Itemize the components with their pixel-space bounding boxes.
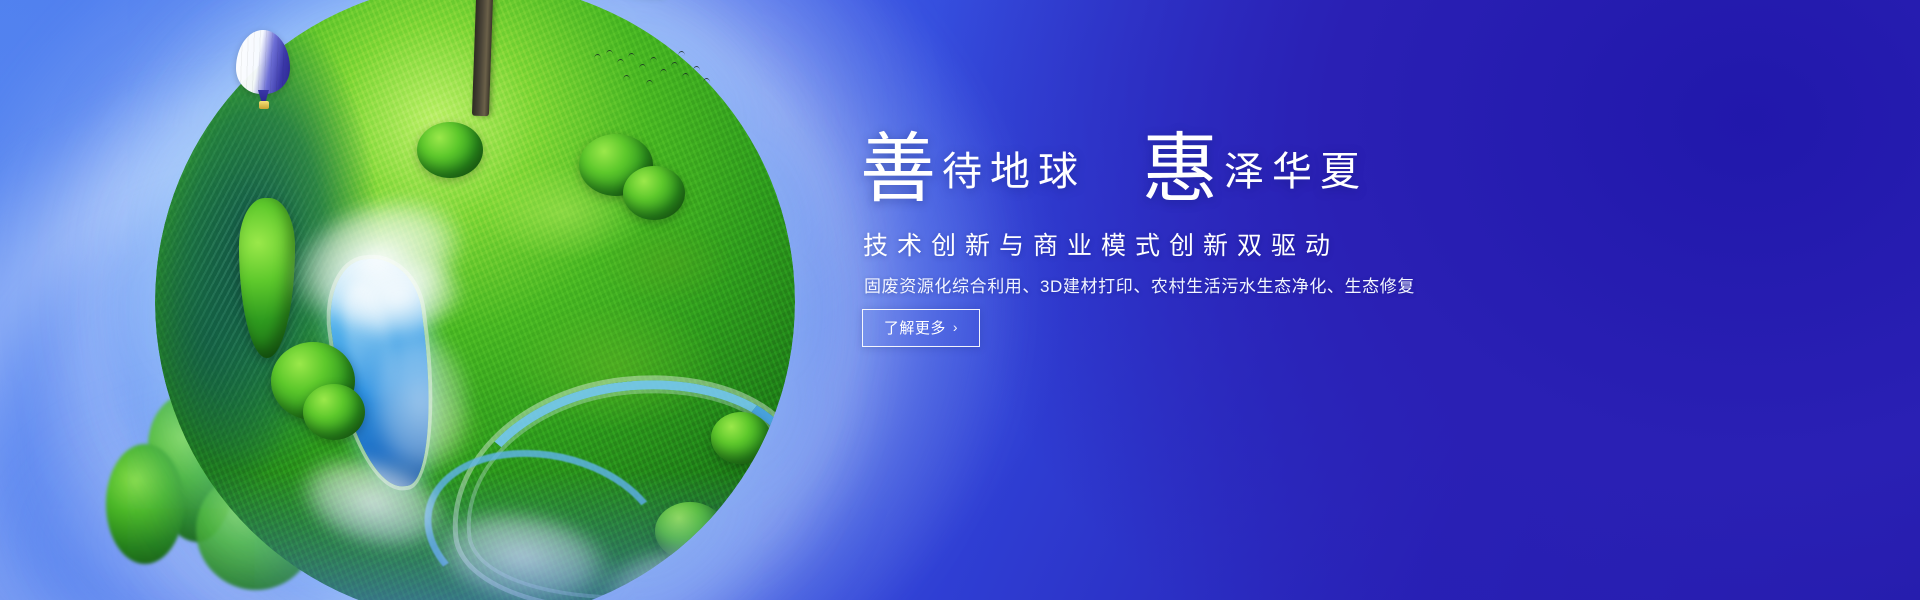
page-title: 善待地球惠泽华夏	[860, 132, 1368, 208]
bird-flock-icon	[590, 48, 720, 94]
hot-air-balloon-icon	[236, 30, 292, 120]
balloon-basket	[259, 101, 269, 109]
tree-trunk	[472, 0, 493, 116]
balloon-envelope	[236, 30, 290, 94]
tree-canopy	[372, 0, 702, 32]
chevron-right-icon: ›	[953, 320, 958, 334]
banner-description: 固废资源化综合利用、3D建材打印、农村生活污水生态净化、生态修复	[864, 272, 1415, 297]
banner-subtitle: 技术创新与商业模式创新双驱动	[863, 226, 1339, 262]
tree-crown-icon	[303, 384, 365, 440]
tree-crown-icon	[623, 166, 685, 220]
headline-char-1: 善	[860, 128, 936, 212]
globe-bottom-fade	[155, 472, 795, 600]
hero-banner: 善待地球惠泽华夏 技术创新与商业模式创新双驱动 固废资源化综合利用、3D建材打印…	[0, 0, 1920, 600]
learn-more-label: 了解更多	[884, 321, 946, 336]
headline-rest-2: 泽华夏	[1218, 149, 1368, 194]
learn-more-button[interactable]: 了解更多 ›	[862, 309, 980, 347]
headline-rest-1: 待地球	[936, 149, 1086, 194]
headline-char-2: 惠	[1142, 128, 1218, 212]
tree-crown-icon	[711, 412, 771, 464]
banner-content: 善待地球惠泽华夏 技术创新与商业模式创新双驱动 固废资源化综合利用、3D建材打印…	[860, 0, 1860, 600]
